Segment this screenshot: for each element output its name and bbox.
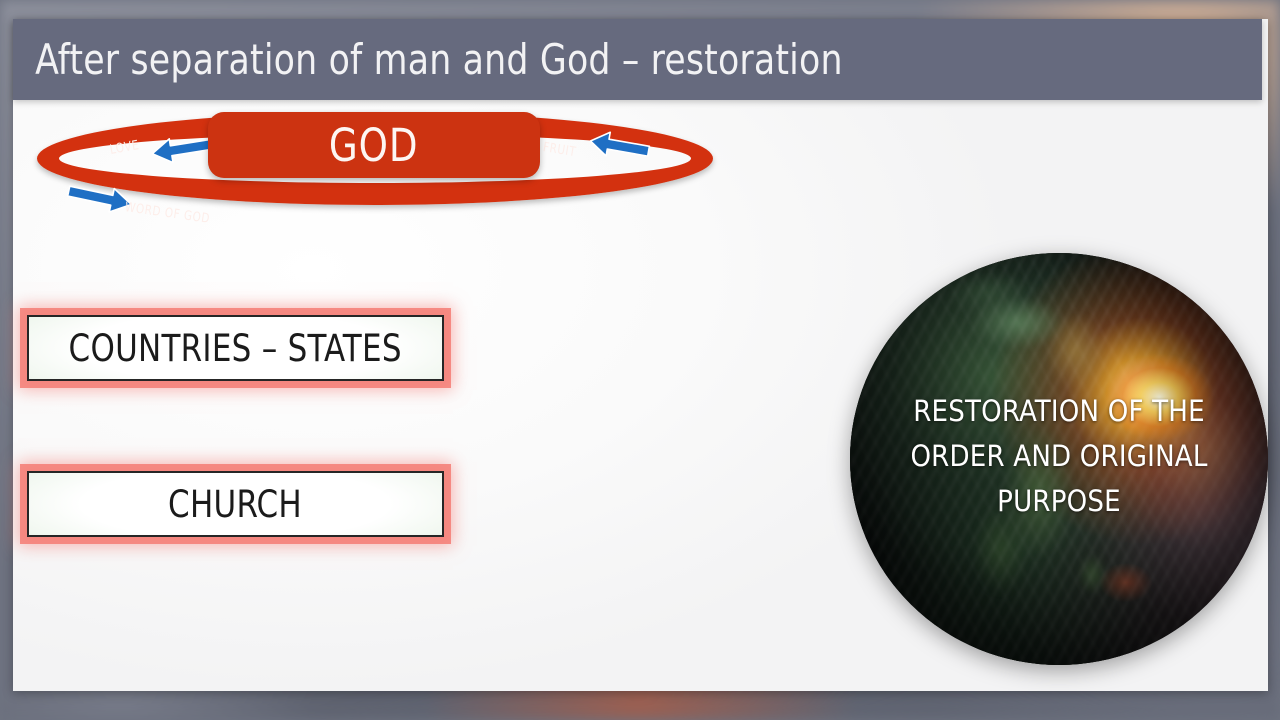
globe-caption-line-3: PURPOSE bbox=[868, 479, 1250, 524]
page-title: After separation of man and God – restor… bbox=[13, 35, 843, 84]
slide-stage: After separation of man and God – restor… bbox=[0, 0, 1280, 720]
globe-caption-line-1: RESTORATION OF THE bbox=[868, 389, 1250, 434]
slide-title-bar: After separation of man and God – restor… bbox=[13, 19, 1262, 100]
cycle-diagram: LOVE FRUIT WORD OF GOD GOD bbox=[30, 108, 720, 213]
arrow-left-icon-fruit bbox=[583, 129, 655, 163]
god-node-label: GOD bbox=[329, 119, 419, 172]
earth-globe-image: RESTORATION OF THE ORDER AND ORIGINAL PU… bbox=[850, 253, 1268, 665]
callout-countries-states: COUNTRIES – STATES bbox=[27, 315, 444, 381]
callout-church: CHURCH bbox=[27, 471, 444, 537]
callout-church-label: CHURCH bbox=[169, 483, 303, 526]
globe-caption: RESTORATION OF THE ORDER AND ORIGINAL PU… bbox=[850, 389, 1268, 524]
globe-caption-line-2: ORDER AND ORIGINAL bbox=[868, 434, 1250, 479]
callout-countries-states-label: COUNTRIES – STATES bbox=[69, 327, 402, 370]
god-node: GOD bbox=[208, 112, 540, 178]
